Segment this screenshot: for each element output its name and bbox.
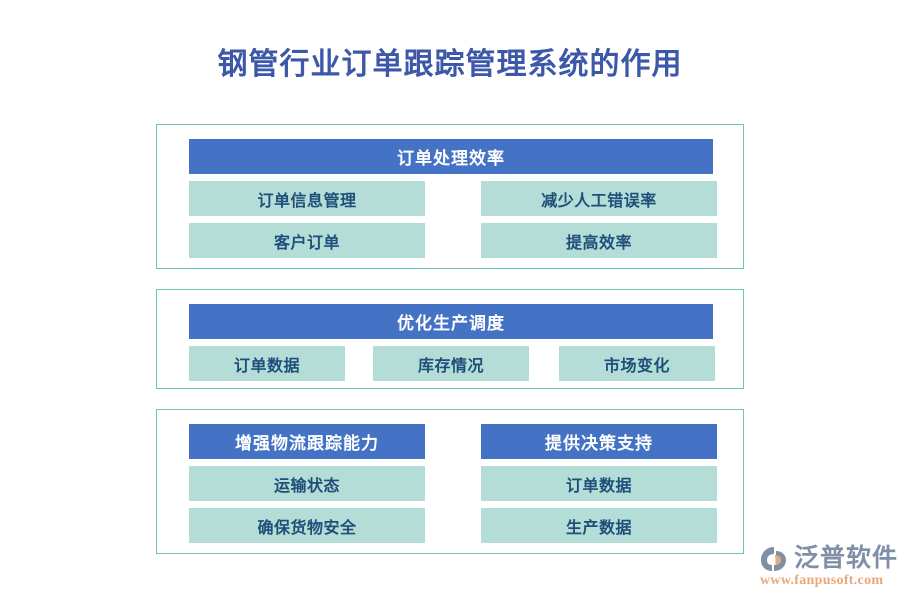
section-3-header-left: 增强物流跟踪能力 [189,424,425,459]
brand-logo: 泛普软件 www.fanpusoft.com [758,542,893,590]
section-order-processing: 订单处理效率 订单信息管理 减少人工错误率 客户订单 提高效率 [156,124,744,269]
section-2-item-3: 市场变化 [559,346,715,381]
section-2-header: 优化生产调度 [189,304,713,339]
section-3-header-right: 提供决策支持 [481,424,717,459]
section-1-item-2: 减少人工错误率 [481,181,717,216]
section-3-item-2: 订单数据 [481,466,717,501]
section-3-item-3: 确保货物安全 [189,508,425,543]
section-3-item-4: 生产数据 [481,508,717,543]
logo-website-url: www.fanpusoft.com [760,573,883,589]
section-production-scheduling: 优化生产调度 订单数据 库存情况 市场变化 [156,289,744,389]
section-1-item-3: 客户订单 [189,223,425,258]
page-title: 钢管行业订单跟踪管理系统的作用 [0,45,900,85]
section-logistics-and-decision: 增强物流跟踪能力 提供决策支持 运输状态 订单数据 确保货物安全 生产数据 [156,409,744,554]
logo-company-name: 泛普软件 [794,542,898,574]
section-3-item-1: 运输状态 [189,466,425,501]
section-2-item-1: 订单数据 [189,346,345,381]
section-1-item-1: 订单信息管理 [189,181,425,216]
section-2-item-2: 库存情况 [373,346,529,381]
section-1-item-4: 提高效率 [481,223,717,258]
infographic-page: 钢管行业订单跟踪管理系统的作用 订单处理效率 订单信息管理 减少人工错误率 客户… [0,0,900,600]
section-1-header: 订单处理效率 [189,139,713,174]
fanpu-logo-mark-icon [760,546,790,572]
